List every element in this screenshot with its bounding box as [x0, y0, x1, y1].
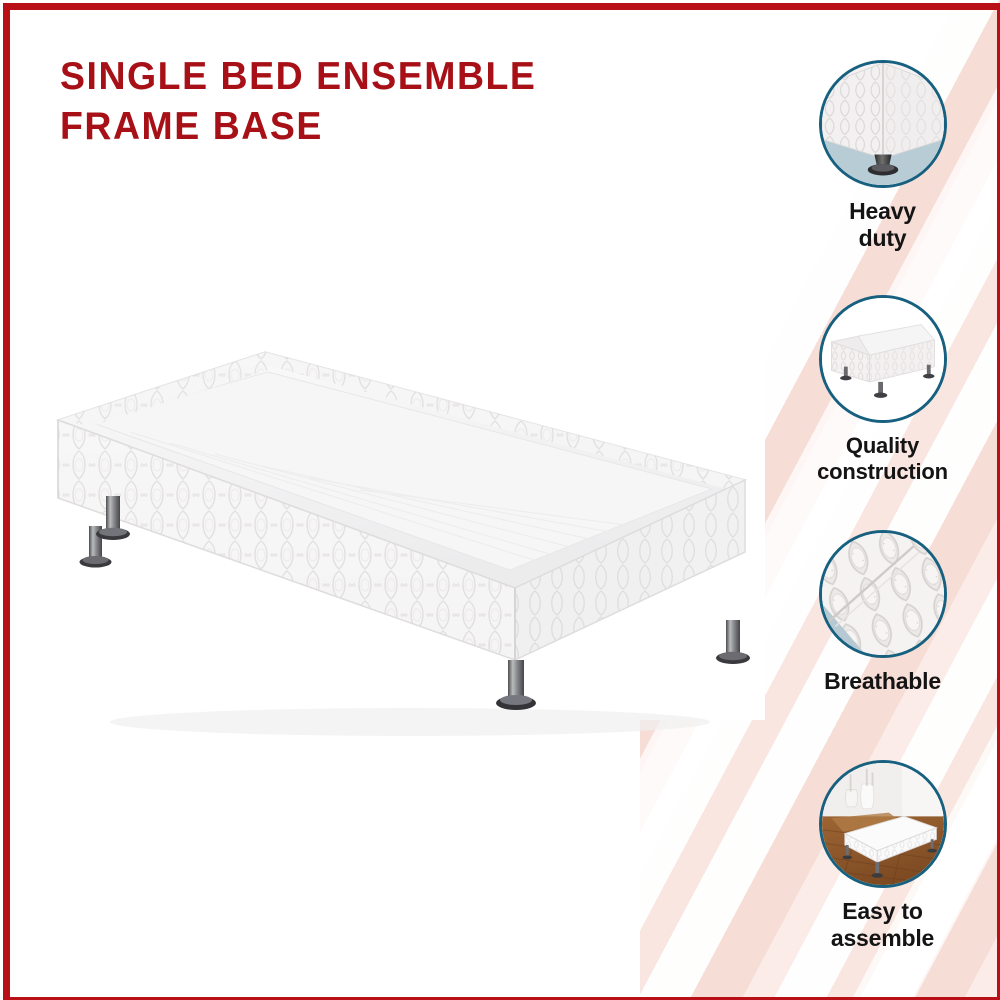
- feature-label: Quality construction: [770, 433, 995, 484]
- product-hero-image: [40, 330, 780, 750]
- leg-back-right: [716, 620, 750, 664]
- feature-item-easy-to-assemble: Easy to assemble: [770, 760, 995, 952]
- feature-label: Heavy duty: [770, 198, 995, 252]
- feature-item-breathable: Breathable: [770, 530, 995, 695]
- feature-label: Easy to assemble: [770, 898, 995, 952]
- heavy-duty-icon: [819, 60, 947, 188]
- leg-front-center: [496, 660, 536, 710]
- breathable-icon: [819, 530, 947, 658]
- feature-item-quality-construction: Quality construction: [770, 295, 995, 484]
- feature-list: Heavy duty: [770, 60, 995, 990]
- feature-label: Breathable: [770, 668, 995, 695]
- easy-to-assemble-icon: [819, 760, 947, 888]
- quality-construction-icon: [819, 295, 947, 423]
- product-poster: Single bed ensemble frame base: [0, 0, 1000, 1000]
- page-title: Single bed ensemble frame base: [60, 52, 674, 152]
- feature-item-heavy-duty: Heavy duty: [770, 60, 995, 252]
